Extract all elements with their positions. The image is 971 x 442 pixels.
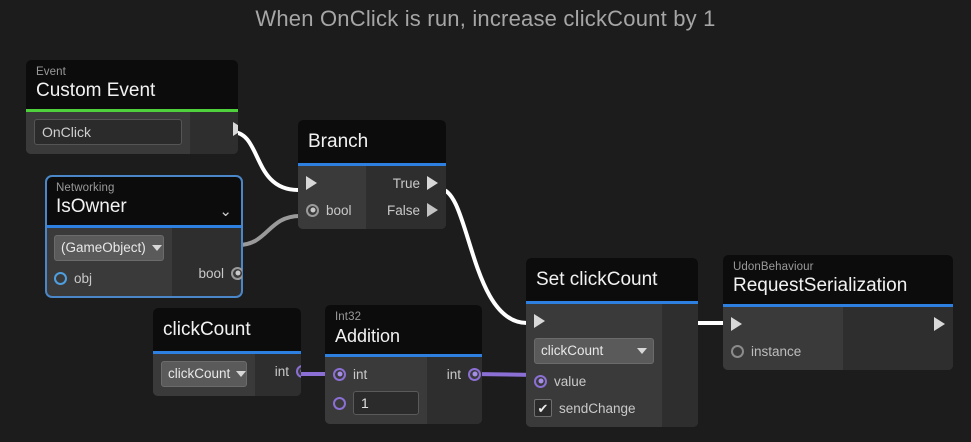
node-graph-canvas[interactable]: When OnClick is run, increase clickCount… <box>0 0 971 442</box>
bool-input-label: bool <box>326 202 352 219</box>
variable-dropdown[interactable]: clickCount <box>161 361 247 387</box>
true-output-label: True <box>393 175 420 192</box>
node-custom-event-inputs: OnClick <box>26 112 190 154</box>
variable-dropdown-value: clickCount <box>541 342 603 360</box>
sendchange-checkbox[interactable]: ✔ <box>534 399 552 417</box>
caret-down-icon <box>152 245 162 251</box>
node-set-clickcount-body: clickCount value ✔ sendChange <box>526 304 698 427</box>
node-set-clickcount-outputs <box>662 304 698 427</box>
set-value-input-row: value <box>534 371 654 391</box>
false-exec-out-port-icon[interactable] <box>427 203 438 217</box>
node-request-serialization-title: RequestSerialization <box>733 274 943 298</box>
node-addition-outputs: int <box>427 357 482 424</box>
caret-down-icon <box>637 348 647 354</box>
node-custom-event-body: OnClick <box>26 112 238 154</box>
exec-in-port-icon[interactable] <box>731 317 742 331</box>
gameobject-type-dropdown-value: (GameObject) <box>61 239 146 257</box>
set-sendchange-row: ✔ sendChange <box>534 398 654 418</box>
node-set-clickcount-title: Set clickCount <box>536 268 688 292</box>
value-input-port[interactable] <box>534 375 547 388</box>
node-branch-outputs: True False <box>366 166 446 229</box>
obj-input-label: obj <box>74 270 92 287</box>
node-clickcount-inputs: clickCount <box>153 354 255 396</box>
addition-input-a-row: int <box>333 364 419 384</box>
custom-event-name-row: OnClick <box>34 119 182 145</box>
check-icon: ✔ <box>538 402 549 415</box>
node-request-serialization-outputs <box>843 307 953 370</box>
set-exec-out-row <box>672 311 698 331</box>
caret-down-icon <box>236 371 246 377</box>
rs-exec-out-row <box>853 314 945 334</box>
instance-input-port[interactable] <box>731 345 744 358</box>
node-set-clickcount[interactable]: Set clickCount clickCount value ✔ <box>526 258 698 427</box>
branch-true-out-row: True <box>376 173 438 193</box>
node-addition[interactable]: Int32 Addition int 1 int <box>325 305 482 424</box>
gameobject-type-dropdown[interactable]: (GameObject) <box>54 235 164 261</box>
node-addition-title: Addition <box>335 324 472 348</box>
node-custom-event-header: Event Custom Event <box>26 60 238 109</box>
obj-input-port[interactable] <box>54 272 67 285</box>
rs-instance-row: instance <box>731 341 835 361</box>
node-addition-subtitle: Int32 <box>335 310 472 324</box>
wire-isowner-to-branch-bool <box>238 216 300 245</box>
node-request-serialization-subtitle: UdonBehaviour <box>733 260 943 274</box>
branch-exec-in-row <box>306 173 358 193</box>
int-output-label: int <box>275 363 289 380</box>
addition-input-b-row: 1 <box>333 391 419 415</box>
exec-in-port-icon[interactable] <box>306 176 317 190</box>
int-input-b-port[interactable] <box>333 397 346 410</box>
node-isowner[interactable]: Networking IsOwner ⌄ (GameObject) obj <box>46 176 242 297</box>
node-clickcount-outputs: int <box>255 354 301 396</box>
node-request-serialization-body: instance <box>723 307 953 370</box>
node-request-serialization[interactable]: UdonBehaviour RequestSerialization insta… <box>723 255 953 370</box>
int-output-label: int <box>447 366 461 383</box>
node-addition-body: int 1 int <box>325 357 482 424</box>
set-exec-in-row <box>534 311 654 331</box>
bool-output-label: bool <box>198 265 224 282</box>
sendchange-label: sendChange <box>559 400 636 417</box>
false-output-label: False <box>387 202 420 219</box>
int-output-port[interactable] <box>468 368 481 381</box>
node-request-serialization-inputs: instance <box>723 307 843 370</box>
exec-out-port-icon[interactable] <box>934 317 945 331</box>
event-name-input[interactable]: OnClick <box>34 119 182 145</box>
node-isowner-subtitle: Networking <box>56 181 232 195</box>
variable-dropdown-value: clickCount <box>168 365 230 383</box>
int-input-b-field[interactable]: 1 <box>353 391 419 415</box>
int-input-a-label: int <box>353 366 367 383</box>
node-branch-title: Branch <box>308 130 436 154</box>
node-set-clickcount-header: Set clickCount <box>526 258 698 301</box>
chevron-down-icon[interactable]: ⌄ <box>219 205 232 219</box>
true-exec-out-port-icon[interactable] <box>427 176 438 190</box>
clickcount-int-out-row: int <box>265 361 301 381</box>
node-isowner-inputs: (GameObject) obj <box>46 228 172 297</box>
node-clickcount-get[interactable]: clickCount clickCount int <box>153 308 301 396</box>
node-addition-header: Int32 Addition <box>325 305 482 354</box>
exec-out-port-icon[interactable] <box>233 122 238 136</box>
node-custom-event-subtitle: Event <box>36 65 228 79</box>
isowner-obj-input-row: obj <box>54 268 164 288</box>
exec-in-port-icon[interactable] <box>534 314 545 328</box>
node-isowner-body: (GameObject) obj bool <box>46 228 242 297</box>
int-input-a-port[interactable] <box>333 368 346 381</box>
variable-dropdown[interactable]: clickCount <box>534 338 654 364</box>
value-input-label: value <box>554 373 586 390</box>
branch-false-out-row: False <box>376 200 438 220</box>
node-isowner-header: Networking IsOwner ⌄ <box>46 176 242 225</box>
node-isowner-outputs: bool <box>172 228 242 297</box>
node-request-serialization-header: UdonBehaviour RequestSerialization <box>723 255 953 304</box>
node-custom-event-outputs <box>190 112 238 154</box>
node-branch[interactable]: Branch bool True False <box>298 120 446 229</box>
addition-int-out-row: int <box>437 364 481 384</box>
node-custom-event[interactable]: Event Custom Event OnClick <box>26 60 238 154</box>
bool-input-port[interactable] <box>306 204 319 217</box>
custom-event-exec-out-row <box>200 119 238 139</box>
node-branch-inputs: bool <box>298 166 366 229</box>
node-addition-inputs: int 1 <box>325 357 427 424</box>
int-output-port[interactable] <box>296 365 301 378</box>
node-isowner-title: IsOwner <box>56 195 127 219</box>
page-title: When OnClick is run, increase clickCount… <box>0 5 971 33</box>
node-branch-header: Branch <box>298 120 446 163</box>
node-set-clickcount-inputs: clickCount value ✔ sendChange <box>526 304 662 427</box>
node-branch-body: bool True False <box>298 166 446 229</box>
rs-exec-in-row <box>731 314 835 334</box>
node-clickcount-header: clickCount <box>153 308 301 351</box>
node-clickcount-body: clickCount int <box>153 354 301 396</box>
node-clickcount-title: clickCount <box>163 318 291 342</box>
instance-input-label: instance <box>751 343 801 360</box>
bool-output-port[interactable] <box>231 267 242 280</box>
isowner-bool-output-row: bool <box>182 263 242 283</box>
node-custom-event-title: Custom Event <box>36 79 228 103</box>
wire-branch-true-to-set <box>440 189 527 323</box>
branch-bool-in-row: bool <box>306 200 358 220</box>
